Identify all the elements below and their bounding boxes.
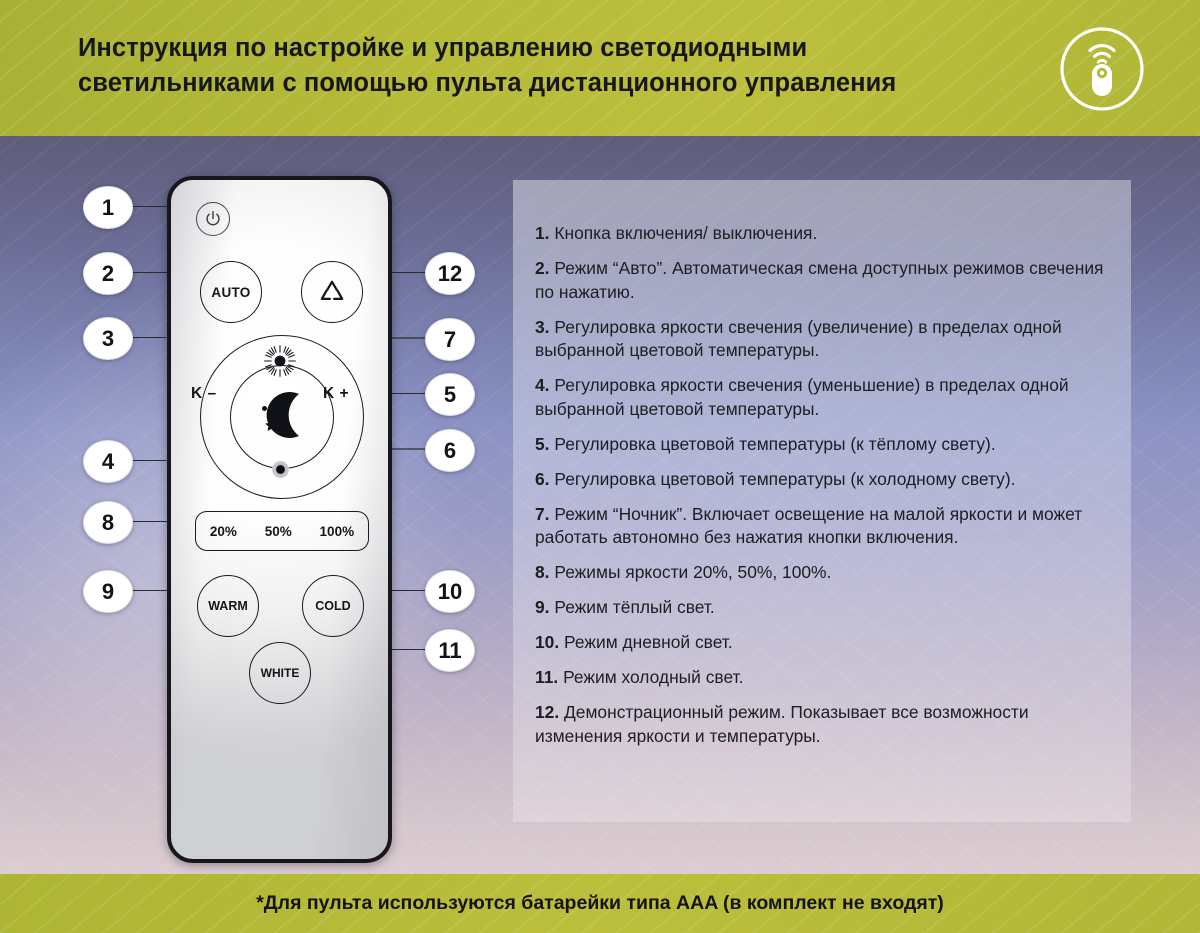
legend-item: 4. Регулировка яркости свечения (уменьше… — [535, 374, 1115, 421]
legend-item-text: Режим тёплый свет. — [554, 597, 714, 617]
callout-2: 2 — [83, 252, 133, 295]
cold-button[interactable]: COLD — [302, 575, 364, 637]
legend-item: 8. Режимы яркости 20%, 50%, 100%. — [535, 561, 1115, 585]
legend-item: 7. Режим “Ночник”. Включает освещение на… — [535, 503, 1115, 550]
footer-note: *Для пульта используются батарейки типа … — [0, 874, 1200, 933]
brightness-levels-bar[interactable]: 20% 50% 100% — [195, 511, 369, 551]
legend-item-number: 7. — [535, 504, 550, 524]
legend-item-number: 8. — [535, 562, 550, 582]
footer-band: *Для пульта используются батарейки типа … — [0, 874, 1200, 933]
crescent-moon-stars-icon — [255, 386, 309, 444]
legend-item: 9. Режим тёплый свет. — [535, 596, 1115, 620]
callout-12: 12 — [425, 252, 475, 295]
remote-control-body: AUTO — [167, 176, 392, 863]
callout-8: 8 — [83, 501, 133, 544]
legend-item-text: Режим “Авто”. Автоматическая смена досту… — [535, 258, 1103, 302]
legend-item-number: 12. — [535, 702, 559, 722]
brightness-down-dot-button[interactable] — [272, 461, 289, 478]
legend-item-text: Режим “Ночник”. Включает освещение на ма… — [535, 504, 1082, 548]
instruction-page: Инструкция по настройке и управлению све… — [0, 0, 1200, 933]
cold-button-label: COLD — [315, 599, 350, 613]
callout-6: 6 — [425, 429, 475, 472]
callout-3: 3 — [83, 317, 133, 360]
legend-item: 2. Режим “Авто”. Автоматическая смена до… — [535, 257, 1115, 304]
legend-item: 11. Режим холодный свет. — [535, 666, 1115, 690]
callout-5: 5 — [425, 373, 475, 416]
color-temp-up-label[interactable]: K + — [323, 385, 349, 403]
auto-button[interactable]: AUTO — [200, 261, 262, 323]
warm-button[interactable]: WARM — [197, 575, 259, 637]
callout-9-number: 9 — [102, 579, 114, 605]
brightness-up-sun-button[interactable] — [263, 344, 297, 378]
white-button[interactable]: WHITE — [249, 642, 311, 704]
legend-item-number: 2. — [535, 258, 550, 278]
legend-item: 3. Регулировка яркости свечения (увеличе… — [535, 316, 1115, 363]
callout-5-number: 5 — [444, 382, 456, 408]
legend-item-number: 5. — [535, 434, 550, 454]
callout-1-number: 1 — [102, 195, 114, 221]
color-temp-down-label[interactable]: K – — [191, 385, 217, 403]
callout-7-number: 7 — [444, 327, 456, 353]
callout-8-number: 8 — [102, 510, 114, 536]
auto-button-label: AUTO — [211, 285, 250, 300]
legend-item: 1. Кнопка включения/ выключения. — [535, 222, 1115, 246]
remote-control-signal-icon — [1059, 26, 1145, 112]
legend-item-number: 4. — [535, 375, 550, 395]
sun-icon — [263, 344, 297, 378]
legend-item: 6. Регулировка цветовой температуры (к х… — [535, 468, 1115, 492]
legend-item-text: Регулировка яркости свечения (увеличение… — [535, 317, 1062, 361]
legend-item-text: Режимы яркости 20%, 50%, 100%. — [554, 562, 831, 582]
callout-6-number: 6 — [444, 438, 456, 464]
legend-item-number: 11. — [535, 667, 558, 687]
white-button-label: WHITE — [261, 666, 300, 680]
legend-item-number: 9. — [535, 597, 550, 617]
legend-item-text: Кнопка включения/ выключения. — [554, 223, 817, 243]
legend-item-number: 6. — [535, 469, 550, 489]
legend-item-text: Регулировка яркости свечения (уменьшение… — [535, 375, 1069, 419]
warm-button-label: WARM — [208, 599, 248, 613]
page-title: Инструкция по настройке и управлению све… — [78, 31, 1008, 101]
legend-item-number: 1. — [535, 223, 550, 243]
night-mode-button[interactable] — [255, 386, 309, 444]
callout-11-number: 11 — [438, 638, 461, 664]
callout-4: 4 — [83, 440, 133, 483]
legend-item-number: 10. — [535, 632, 559, 652]
callout-11: 11 — [425, 629, 475, 672]
brightness-level-20[interactable]: 20% — [210, 524, 237, 539]
callout-1: 1 — [83, 186, 133, 229]
page-title-line-2: светильниками с помощью пульта дистанцио… — [78, 66, 1008, 101]
legend-item: 10. Режим дневной свет. — [535, 631, 1115, 655]
callout-10: 10 — [425, 570, 475, 613]
callout-12-number: 12 — [438, 261, 462, 287]
demo-button[interactable] — [301, 261, 363, 323]
callout-10-number: 10 — [438, 579, 462, 605]
legend-item-number: 3. — [535, 317, 550, 337]
callout-7: 7 — [425, 318, 475, 361]
legend-item-text: Режим дневной свет. — [564, 632, 733, 652]
legend-item: 5. Регулировка цветовой температуры (к т… — [535, 433, 1115, 457]
legend-item: 12. Демонстрационный режим. Показывает в… — [535, 701, 1115, 748]
legend-item-text: Режим холодный свет. — [563, 667, 743, 687]
legend-list: 1. Кнопка включения/ выключения. 2. Режи… — [535, 222, 1115, 760]
power-button[interactable] — [196, 202, 230, 236]
legend-item-text: Демонстрационный режим. Показывает все в… — [535, 702, 1029, 746]
callout-2-number: 2 — [102, 261, 114, 287]
legend-item-text: Регулировка цветовой температуры (к холо… — [554, 469, 1015, 489]
callout-3-number: 3 — [102, 326, 114, 352]
legend-item-text: Регулировка цветовой температуры (к тёпл… — [554, 434, 995, 454]
callout-4-number: 4 — [102, 449, 114, 475]
header-band: Инструкция по настройке и управлению све… — [0, 0, 1200, 136]
power-icon — [202, 208, 224, 230]
callout-9: 9 — [83, 570, 133, 613]
recycle-arrows-icon — [316, 276, 348, 308]
page-title-line-1: Инструкция по настройке и управлению све… — [78, 31, 1008, 66]
brightness-level-50[interactable]: 50% — [265, 524, 292, 539]
brightness-level-100[interactable]: 100% — [320, 524, 355, 539]
